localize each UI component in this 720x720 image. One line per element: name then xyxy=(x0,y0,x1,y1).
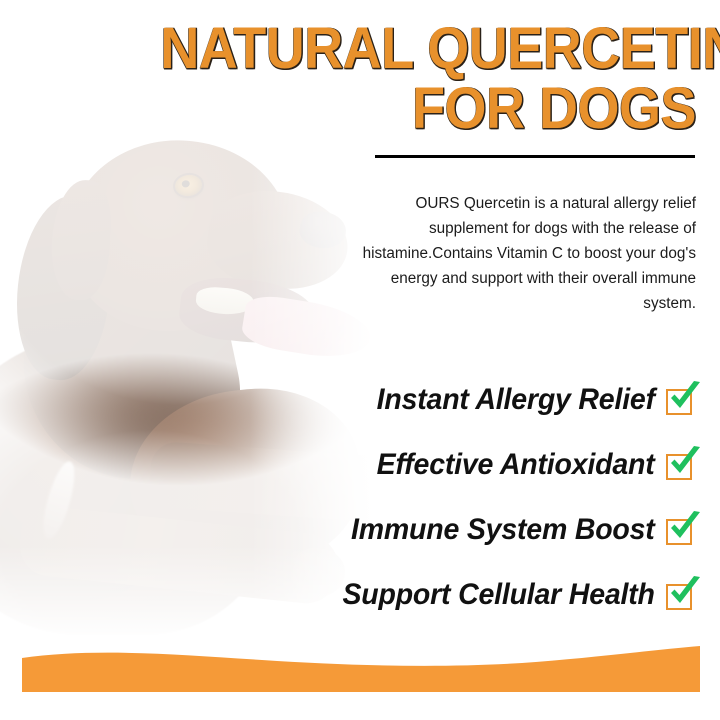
product-infographic-poster: NATURAL QUERCETIN FOR DOGS OURS Querceti… xyxy=(0,0,720,720)
title-divider xyxy=(375,155,695,158)
benefit-label: Instant Allergy Relief xyxy=(377,384,655,416)
check-mark-icon xyxy=(666,515,696,545)
title-line-2: FOR DOGS xyxy=(160,82,696,136)
list-item: Instant Allergy Relief xyxy=(300,378,696,422)
page-title: NATURAL QUERCETIN FOR DOGS xyxy=(120,22,696,136)
benefit-label: Effective Antioxidant xyxy=(377,449,655,481)
check-mark-icon xyxy=(666,580,696,610)
list-item: Support Cellular Health xyxy=(300,573,696,617)
list-item: Effective Antioxidant xyxy=(300,443,696,487)
product-description: OURS Quercetin is a natural allergy reli… xyxy=(352,191,696,316)
check-mark-icon xyxy=(666,450,696,480)
check-mark-icon xyxy=(666,385,696,415)
title-line-1: NATURAL QUERCETIN xyxy=(160,22,696,76)
benefits-list: Instant Allergy Relief Effective Antioxi… xyxy=(300,378,696,638)
benefit-label: Support Cellular Health xyxy=(343,579,655,611)
benefit-label: Immune System Boost xyxy=(351,514,655,546)
list-item: Immune System Boost xyxy=(300,508,696,552)
bottom-wave-band xyxy=(22,644,700,692)
